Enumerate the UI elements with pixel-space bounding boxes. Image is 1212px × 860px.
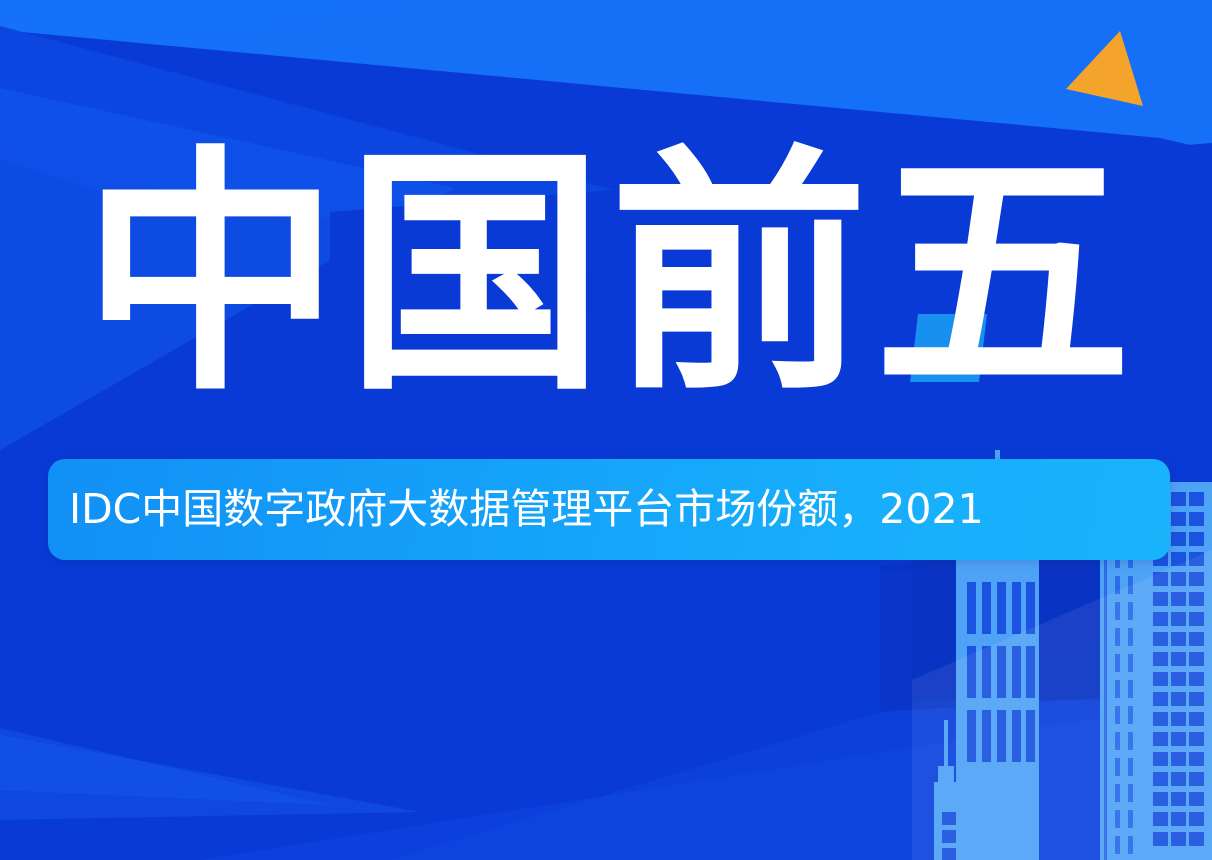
subtitle-text: IDC中国数字政府大数据管理平台市场份额，2021 [48,489,984,530]
headline-text: 中国前五 [82,128,1138,418]
subtitle-pill: IDC中国数字政府大数据管理平台市场份额，2021 [48,459,1170,560]
poster-root: 中国前五 中国前五 IDC中国数字政府大数据管理平台市场份额，2021 [0,0,1212,860]
page-title: 中国前五 中国前五 [82,128,1142,418]
headline-svg: 中国前五 中国前五 [82,128,1142,418]
